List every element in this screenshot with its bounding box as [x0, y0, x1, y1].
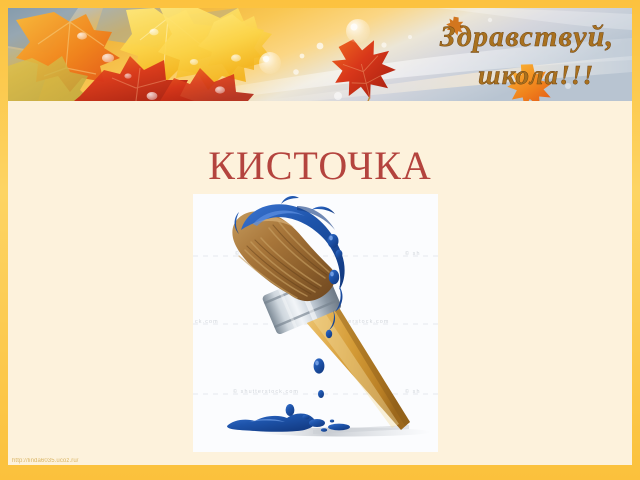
svg-text:© sh: © sh — [405, 388, 421, 395]
autumn-school-banner: Здравствуй, школа!!! — [8, 8, 632, 101]
paintbrush-illustration: © shutterstock.com © sh ck.com utterstoc… — [193, 194, 438, 452]
paint-drop — [326, 330, 332, 338]
banner-script-line1: Здравствуй, — [439, 20, 614, 53]
paintbrush-artwork: © shutterstock.com © sh ck.com utterstoc… — [193, 194, 438, 452]
svg-text:ck.com: ck.com — [195, 319, 219, 325]
slide-canvas: Здравствуй, школа!!! КИСТОЧКА — [8, 8, 632, 465]
watermark-label-2: © shutterstock.com — [233, 388, 299, 395]
paint-drop — [329, 270, 339, 284]
banner-artwork: Здравствуй, школа!!! — [8, 8, 632, 101]
svg-text:© sh: © sh — [405, 250, 421, 257]
paint-drop — [336, 250, 343, 259]
paint-drop — [314, 358, 325, 373]
paint-drop — [318, 390, 324, 398]
banner-script-line2: школа!!! — [478, 60, 594, 90]
slide-frame: Здравствуй, школа!!! КИСТОЧКА — [0, 0, 640, 480]
page-title: КИСТОЧКА — [8, 144, 632, 188]
source-url[interactable]: http://linda6035.ucoz.ru/ — [12, 458, 79, 464]
paint-drop — [328, 234, 339, 248]
paint-drop — [286, 404, 295, 416]
